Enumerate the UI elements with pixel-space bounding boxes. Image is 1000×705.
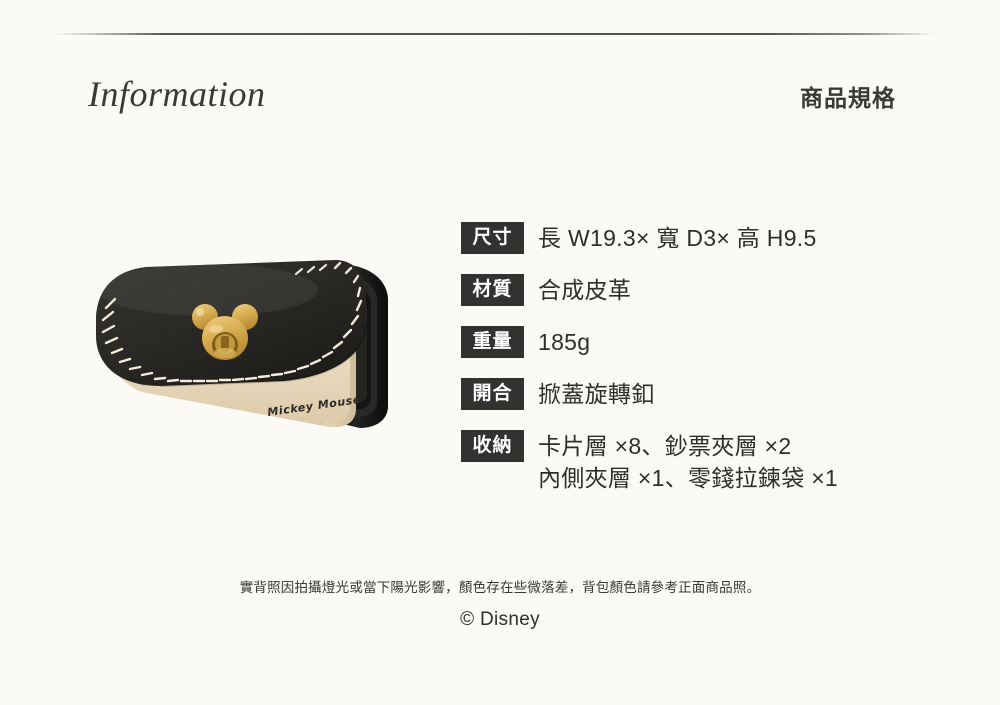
section-heading-row: Information 商品規格 [88,76,896,112]
product-information-page: Information 商品規格 [0,0,1000,705]
spec-label: 材質 [461,274,524,306]
spec-value: 185g [538,326,921,358]
spec-value: 長 W19.3× 寬 D3× 高 H9.5 [538,222,921,254]
spec-row-size: 尺寸 長 W19.3× 寬 D3× 高 H9.5 [461,222,921,254]
top-divider [0,33,1000,35]
product-image: Mickey Mouse [88,250,418,460]
spec-value: 卡片層 ×8、鈔票夾層 ×2 內側夾層 ×1、零錢拉鍊袋 ×1 [538,430,921,494]
spec-label: 收納 [461,430,524,462]
spec-row-storage: 收納 卡片層 ×8、鈔票夾層 ×2 內側夾層 ×1、零錢拉鍊袋 ×1 [461,430,921,494]
spec-label: 尺寸 [461,222,524,254]
copyright-notice: © Disney [0,609,1000,631]
color-disclaimer-note: 實背照因拍攝燈光或當下陽光影響，顏色存在些微落差，背包顏色請參考正面商品照。 [0,576,1000,596]
spec-row-material: 材質 合成皮革 [461,274,921,306]
page-title-zh: 商品規格 [800,87,896,110]
spec-table: 尺寸 長 W19.3× 寬 D3× 高 H9.5 材質 合成皮革 重量 185g… [461,222,921,494]
spec-row-closure: 開合 掀蓋旋轉釦 [461,378,921,410]
page-title-en: Information [88,76,266,112]
spec-label: 重量 [461,326,524,358]
spec-value: 掀蓋旋轉釦 [538,378,921,410]
spec-row-weight: 重量 185g [461,326,921,358]
spec-label: 開合 [461,378,524,410]
wallet-illustration: Mickey Mouse [88,250,418,460]
spec-value: 合成皮革 [538,274,921,306]
